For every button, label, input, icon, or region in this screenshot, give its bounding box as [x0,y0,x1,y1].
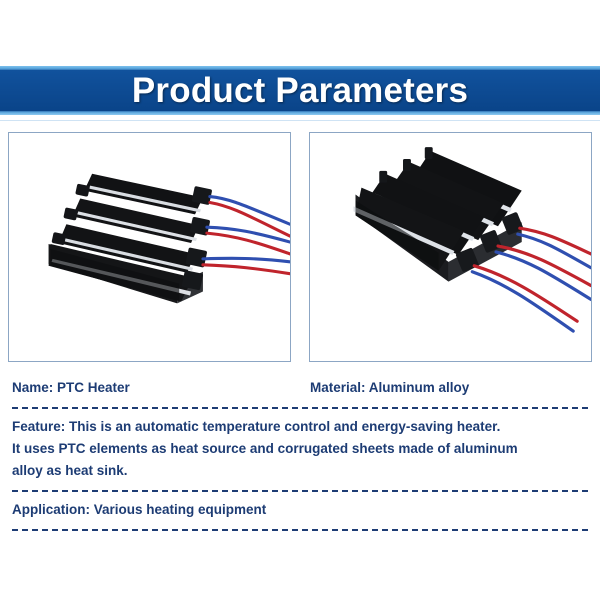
spec-feature-line-2: It uses PTC elements as heat source and … [12,439,588,459]
spec-feature-block: Feature: This is an automatic temperatur… [12,417,588,481]
spec-feature-line-3: alloy as heat sink. [12,461,588,481]
divider-1 [12,407,588,409]
top-spacer [0,0,600,66]
ptc-heater-photo-stacked [310,133,591,361]
page-title: Product Parameters [0,66,600,115]
divider-3 [12,529,588,531]
product-photo-row [0,121,600,362]
spec-material: Material: Aluminum alloy [310,378,469,398]
spec-application: Application: Various heating equipment [12,500,588,520]
product-photo-frame-right[interactable] [309,132,592,362]
ptc-heater-photo-angled [9,133,290,361]
divider-2 [12,490,588,492]
spec-row-name-material: Name: PTC Heater Material: Aluminum allo… [12,378,588,398]
spec-section: Name: PTC Heater Material: Aluminum allo… [0,362,600,531]
spec-name: Name: PTC Heater [12,378,310,398]
product-photo-frame-left[interactable] [8,132,291,362]
spec-feature-line-1: Feature: This is an automatic temperatur… [12,417,588,437]
page-banner: Product Parameters [0,66,600,115]
